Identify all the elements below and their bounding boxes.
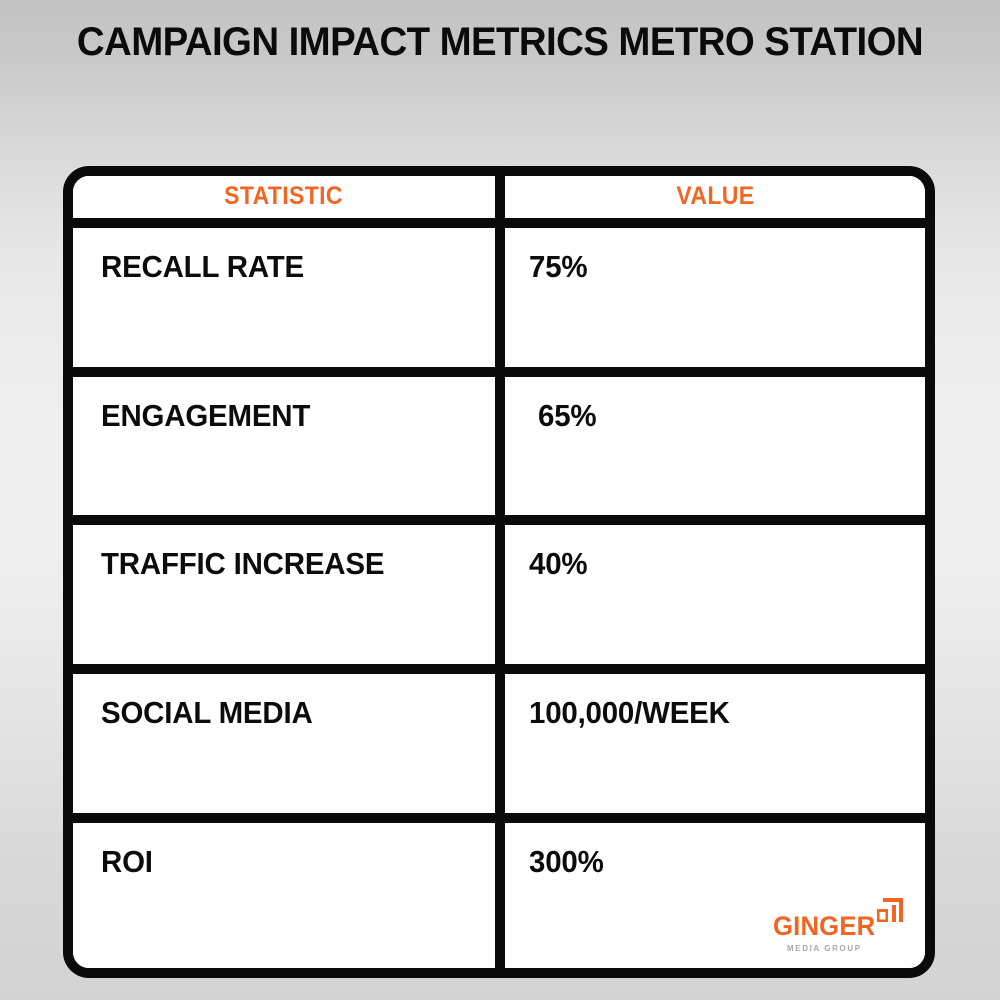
cell-value: 100,000/WEEK [505, 674, 925, 813]
statistic-label: ROI [101, 845, 153, 879]
value-label: 75% [529, 250, 587, 284]
table-row: TRAFFIC INCREASE 40% [73, 525, 925, 674]
ginger-media-group-logo: GINGER MEDIA GROUP [773, 894, 903, 956]
statistic-label: SOCIAL MEDIA [101, 696, 313, 730]
cell-statistic: SOCIAL MEDIA [73, 674, 505, 813]
cell-value: 75% [505, 228, 925, 367]
cell-value: 40% [505, 525, 925, 664]
table-header-row: STATISTIC VALUE [73, 176, 925, 228]
statistic-label: TRAFFIC INCREASE [101, 547, 384, 581]
statistic-label: RECALL RATE [101, 250, 304, 284]
table-row: ENGAGEMENT 65% [73, 377, 925, 526]
metrics-table: STATISTIC VALUE RECALL RATE 75% ENGAGEME… [63, 166, 935, 978]
column-header-statistic: STATISTIC [225, 182, 344, 211]
cell-value: 65% [505, 377, 925, 516]
cell-value: 300% GINGER MEDIA GROUP [505, 823, 925, 968]
value-label: 65% [538, 399, 596, 433]
cell-statistic: ENGAGEMENT [73, 377, 505, 516]
table-header-cell-value: VALUE [505, 176, 925, 218]
statistic-label: ENGAGEMENT [101, 399, 310, 433]
cell-statistic: TRAFFIC INCREASE [73, 525, 505, 664]
table-body: STATISTIC VALUE RECALL RATE 75% ENGAGEME… [73, 176, 925, 968]
value-label: 300% [529, 845, 604, 879]
table-row: RECALL RATE 75% [73, 228, 925, 377]
column-header-value: VALUE [676, 182, 754, 211]
table-row: SOCIAL MEDIA 100,000/WEEK [73, 674, 925, 823]
cell-statistic: RECALL RATE [73, 228, 505, 367]
table-row: ROI 300% GINGER [73, 823, 925, 968]
bar-chart-square-icon [877, 898, 903, 922]
table-header-cell-statistic: STATISTIC [73, 176, 505, 218]
page-title: CAMPAIGN IMPACT METRICS METRO STATION [20, 20, 980, 65]
cell-statistic: ROI [73, 823, 505, 968]
value-label: 100,000/WEEK [529, 696, 730, 730]
logo-tagline: MEDIA GROUP [787, 945, 862, 953]
logo-wordmark: GINGER [773, 913, 875, 940]
value-label: 40% [529, 547, 587, 581]
